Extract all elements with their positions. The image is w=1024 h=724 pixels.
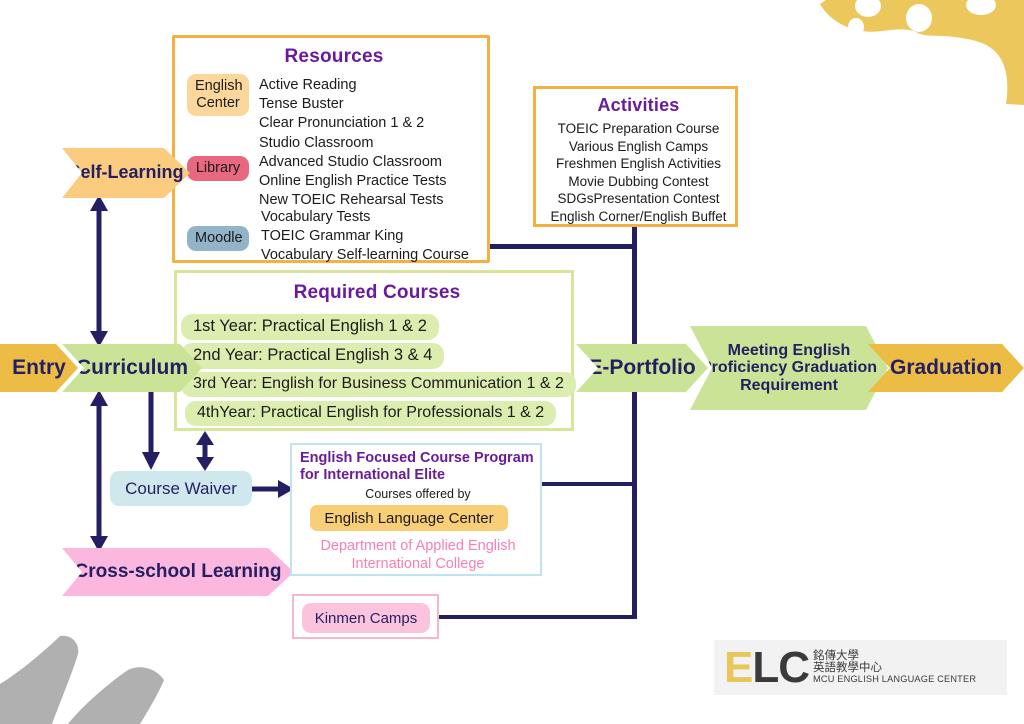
connector-kinmen-branch xyxy=(438,615,637,619)
flowchart-canvas: Resources English Center Active Reading … xyxy=(0,0,1024,724)
logo-letters-lc: LC xyxy=(752,646,809,690)
activities-list: TOEIC Preparation Course Various English… xyxy=(536,120,741,225)
connector-resources-horizontal xyxy=(487,244,637,249)
resource-items-english-center: Active Reading Tense Buster Clear Pronun… xyxy=(259,74,424,133)
activities-title: Activities xyxy=(536,95,741,116)
logo-text-block: 銘傳大學 英語教學中心 MCU ENGLISH LANGUAGE CENTER xyxy=(813,650,976,685)
arrow-curriculum-crossschool xyxy=(88,390,110,552)
resource-label-english-center[interactable]: English Center xyxy=(187,74,249,116)
course-waiver-pill[interactable]: Course Waiver xyxy=(110,471,252,506)
arrow-requiredcourses-coursewaiver xyxy=(194,431,216,471)
kinmen-camps-pill[interactable]: Kinmen Camps xyxy=(302,603,430,633)
logo-letter-e: E xyxy=(724,646,752,690)
required-courses-panel: Required Courses 1st Year: Practical Eng… xyxy=(174,270,574,431)
required-courses-title: Required Courses xyxy=(177,282,577,304)
elc-logo: E LC 銘傳大學 英語教學中心 MCU ENGLISH LANGUAGE CE… xyxy=(714,640,1007,695)
english-focused-course-program-panel: English Focused Course Program for Inter… xyxy=(290,443,542,576)
gray-brush-decoration xyxy=(0,628,170,724)
resource-group-english-center: English Center Active Reading Tense Bust… xyxy=(187,74,487,133)
focused-program-title: English Focused Course Program for Inter… xyxy=(300,450,540,484)
focused-program-subtitle: Courses offered by xyxy=(292,487,544,501)
course-chip-year1[interactable]: 1st Year: Practical English 1 & 2 xyxy=(181,314,439,340)
connector-eportfolio-down xyxy=(632,390,637,619)
logo-chinese-line-1: 銘傳大學 xyxy=(813,650,976,662)
focused-program-provider[interactable]: English Language Center xyxy=(310,505,508,531)
course-chip-year2[interactable]: 2nd Year: Practical English 3 & 4 xyxy=(181,343,444,369)
logo-chinese-line-2: 英語教學中心 xyxy=(813,662,976,674)
logo-english-name: MCU ENGLISH LANGUAGE CENTER xyxy=(813,675,976,685)
connector-focused-program-branch xyxy=(541,482,637,486)
arrow-selflearning-curriculum xyxy=(88,195,110,347)
resource-group-moodle: Moodle Vocabulary Tests TOEIC Grammar Ki… xyxy=(187,208,487,265)
cross-school-learning-banner[interactable]: Cross-school Learning xyxy=(62,548,294,596)
e-portfolio-chevron[interactable]: E-Portfolio xyxy=(576,344,708,392)
resources-panel: Resources English Center Active Reading … xyxy=(172,35,490,263)
focused-program-departments: Department of Applied English Internatio… xyxy=(292,537,544,574)
proficiency-requirement-chevron[interactable]: Meeting English Proficiency Graduation R… xyxy=(690,326,888,410)
kinmen-camps-panel: Kinmen Camps xyxy=(292,594,439,639)
resource-label-moodle[interactable]: Moodle xyxy=(187,226,249,251)
resource-label-library[interactable]: Library xyxy=(187,156,249,181)
resources-title: Resources xyxy=(175,46,493,68)
resource-group-library: Library Studio Classroom Advanced Studio… xyxy=(187,134,487,209)
arrow-coursewaiver-focusedprogram xyxy=(252,478,294,500)
arrow-curriculum-coursewaiver xyxy=(140,390,162,470)
self-learning-banner[interactable]: Self-Learning xyxy=(62,148,190,198)
curriculum-chevron[interactable]: Curriculum xyxy=(62,344,202,392)
resource-items-moodle: Vocabulary Tests TOEIC Grammar King Voca… xyxy=(261,208,469,265)
course-chip-year3[interactable]: 3rd Year: English for Business Communica… xyxy=(181,372,576,397)
entry-chevron[interactable]: Entry xyxy=(0,344,78,392)
course-chip-year4[interactable]: 4thYear: Practical English for Professio… xyxy=(185,401,556,426)
yellow-decorative-blob xyxy=(806,0,1024,105)
graduation-chevron[interactable]: Graduation xyxy=(868,344,1024,392)
resource-items-library: Studio Classroom Advanced Studio Classro… xyxy=(259,134,447,209)
activities-panel: Activities TOEIC Preparation Course Vari… xyxy=(533,86,738,227)
